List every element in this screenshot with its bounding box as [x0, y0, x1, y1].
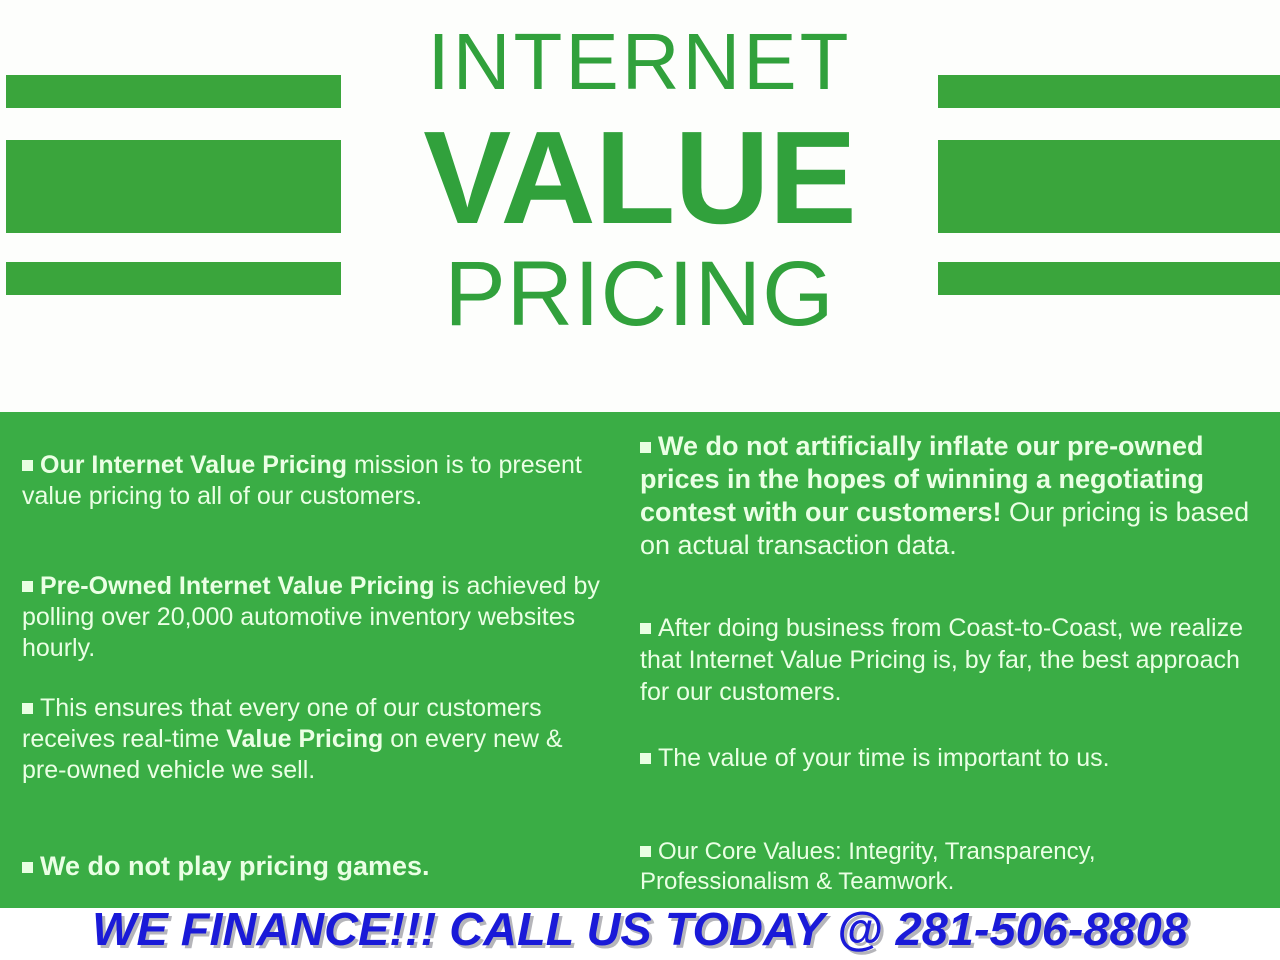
bullet-lead-text: Our Internet Value Pricing [40, 451, 347, 479]
logo-bar-right-middle [938, 140, 1280, 233]
bullet-square-icon [640, 442, 651, 453]
logo-wordmark: INTERNET VALUE PRICING [341, 0, 938, 412]
green-content-panel: Our Internet Value Pricing mission is to… [0, 412, 1280, 912]
bullet-item: Our Core Values: Integrity, Transparency… [640, 837, 1265, 897]
bullet-square-icon [22, 460, 33, 471]
logo-bar-left-middle [6, 140, 341, 233]
bullet-item: We do not play pricing games. [22, 850, 430, 882]
bullet-square-icon [640, 623, 651, 634]
flyer-page: INTERNET VALUE PRICING Our Internet Valu… [0, 0, 1280, 960]
logo-line-pricing: PRICING [341, 248, 938, 340]
finance-banner-text: WE FINANCE!!! CALL US TODAY @ 281-506-88… [0, 902, 1280, 956]
bullet-lead-text: Pre-Owned Internet Value Pricing [40, 572, 435, 600]
bullet-square-icon [22, 862, 33, 873]
bullet-item: This ensures that every one of our custo… [22, 693, 612, 786]
bullet-item: Pre-Owned Internet Value Pricing is achi… [22, 571, 612, 664]
logo-bar-right-bottom [938, 262, 1280, 295]
bullet-body-text: Our Core Values: Integrity, Transparency… [640, 838, 1096, 895]
finance-banner: WE FINANCE!!! CALL US TODAY @ 281-506-88… [0, 908, 1280, 960]
bullet-square-icon [640, 846, 651, 857]
bullet-square-icon [22, 581, 33, 592]
bullet-item: After doing business from Coast-to-Coast… [640, 612, 1265, 708]
logo-bar-left-bottom [6, 262, 341, 295]
logo-line-internet: INTERNET [341, 22, 938, 102]
bullet-item: The value of your time is important to u… [640, 742, 1110, 774]
logo-bar-left-top [6, 75, 341, 108]
bullet-square-icon [22, 703, 33, 714]
bullet-emphasis-text: Value Pricing [226, 725, 383, 753]
bullet-body-text: The value of your time is important to u… [658, 744, 1110, 772]
bullet-lead-text: We do not play pricing games. [40, 851, 430, 881]
logo-line-value: VALUE [341, 112, 938, 244]
logo-bar-right-top [938, 75, 1280, 108]
bullet-body-text: After doing business from Coast-to-Coast… [640, 614, 1243, 706]
bullet-item: We do not artificially inflate our pre-o… [640, 430, 1265, 562]
bullet-square-icon [640, 753, 651, 764]
logo-header: INTERNET VALUE PRICING [0, 0, 1280, 412]
bullet-item: Our Internet Value Pricing mission is to… [22, 450, 612, 512]
